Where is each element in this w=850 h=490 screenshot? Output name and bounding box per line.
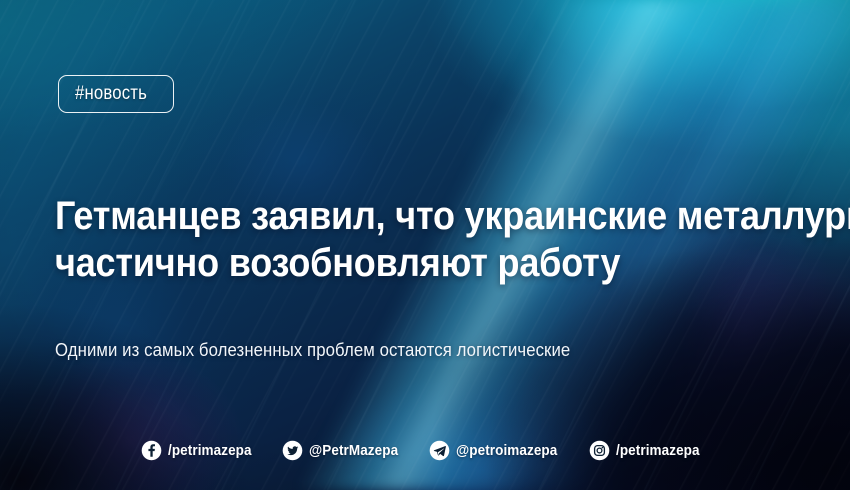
facebook-handle: /petrimazepa [168,442,252,459]
social-link-telegram[interactable]: @petroimazepa [429,440,569,461]
category-badge-label: #новость [75,83,147,105]
twitter-icon [282,440,303,461]
news-card: #новость Гетманцев заявил, что украински… [0,0,850,490]
headline-line-2: частично возобновляют работу [55,240,721,287]
subtitle: Одними из самых болезненных проблем оста… [55,340,570,361]
twitter-handle: @PetrMazepa [309,442,398,459]
instagram-icon [589,440,610,461]
instagram-handle: /petrimazepa [616,442,700,459]
social-link-instagram[interactable]: /petrimazepa [589,440,709,461]
headline-line-1: Гетманцев заявил, что украинские металлу… [55,193,721,240]
facebook-icon [141,440,162,461]
category-badge[interactable]: #новость [58,75,174,113]
social-link-facebook[interactable]: /petrimazepa [141,440,261,461]
social-link-twitter[interactable]: @PetrMazepa [282,440,408,461]
telegram-handle: @petroimazepa [456,442,557,459]
telegram-icon [429,440,450,461]
page-title: Гетманцев заявил, что украинские металлу… [55,193,721,287]
social-links-bar: /petrimazepa @PetrMazepa [0,434,850,466]
